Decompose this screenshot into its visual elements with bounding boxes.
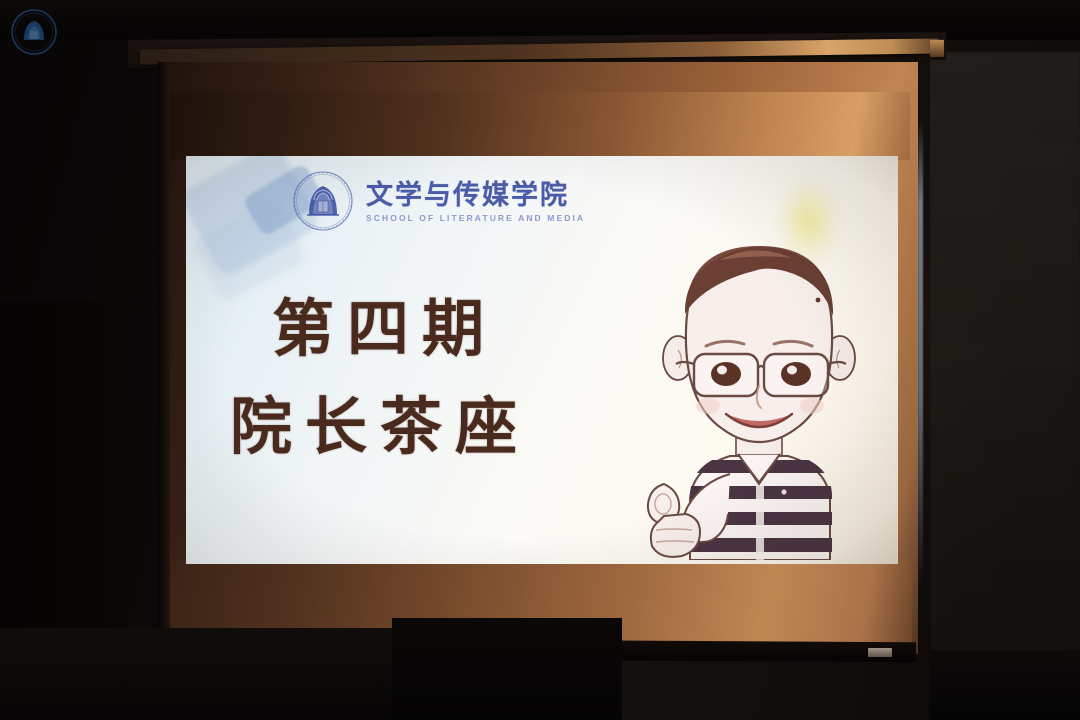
foreground-furniture-right (930, 650, 1080, 720)
school-emblem-icon (292, 170, 354, 232)
screenshot-root: 文学与传媒学院 SCHOOL OF LITERATURE AND MEDIA 第… (0, 0, 1080, 720)
slide-title-line-1: 第四期 (272, 298, 630, 360)
projected-slide: 文学与传媒学院 SCHOOL OF LITERATURE AND MEDIA 第… (186, 156, 898, 564)
foreground-left-shadow (0, 300, 128, 660)
screen-fabric-top-margin (170, 92, 910, 160)
school-name-en: SCHOOL OF LITERATURE AND MEDIA (366, 213, 585, 223)
wall-right-panel (930, 52, 1080, 652)
school-name-cn: 文学与传媒学院 (366, 181, 585, 210)
screen-right-edge-highlight (918, 120, 923, 590)
university-emblem-watermark (8, 6, 60, 58)
foreground-furniture-left (0, 628, 410, 720)
cartoon-dean-illustration (634, 234, 884, 560)
screen-brand-label (868, 648, 892, 657)
foreground-furniture-center (392, 618, 622, 720)
screen-roller-endcap (930, 40, 944, 57)
slide-title-block: 第四期 院长茶座 (230, 298, 630, 458)
slide-title-line-2: 院长茶座 (230, 396, 630, 458)
slide-header-logo-lockup: 文学与传媒学院 SCHOOL OF LITERATURE AND MEDIA (292, 170, 585, 232)
school-name-block: 文学与传媒学院 SCHOOL OF LITERATURE AND MEDIA (366, 179, 585, 223)
screen-left-edge (158, 62, 170, 654)
